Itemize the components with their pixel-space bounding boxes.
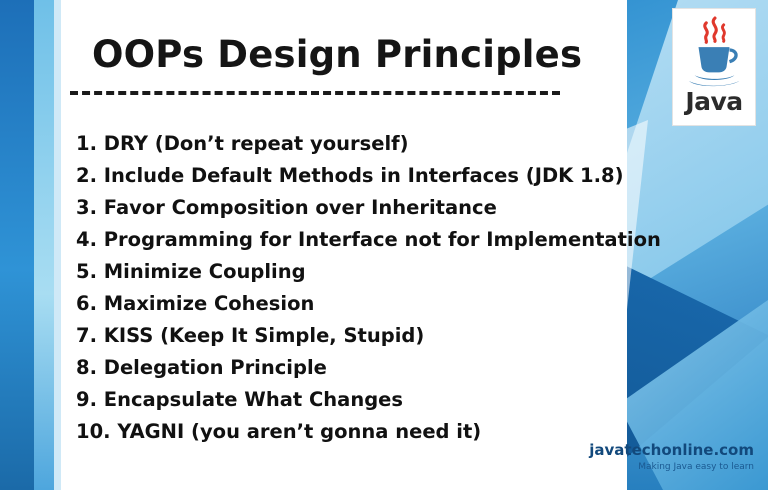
java-logo: Java bbox=[672, 8, 756, 126]
list-item: 7. KISS (Keep It Simple, Stupid) bbox=[76, 326, 636, 346]
java-cup-icon bbox=[683, 15, 745, 87]
list-item: 9. Encapsulate What Changes bbox=[76, 390, 636, 410]
slide-canvas: Java OOPs Design Principles 1. DRY (Don’… bbox=[0, 0, 768, 490]
principles-list: 1. DRY (Don’t repeat yourself) 2. Includ… bbox=[76, 134, 636, 454]
background-band-left-dark bbox=[0, 0, 34, 490]
page-title: OOPs Design Principles bbox=[92, 33, 582, 76]
brand-site-name: javatechonline.com bbox=[589, 442, 754, 459]
title-divider bbox=[70, 91, 560, 95]
list-item: 6. Maximize Cohesion bbox=[76, 294, 636, 314]
list-item: 3. Favor Composition over Inheritance bbox=[76, 198, 636, 218]
list-item: 4. Programming for Interface not for Imp… bbox=[76, 230, 636, 250]
list-item: 8. Delegation Principle bbox=[76, 358, 636, 378]
list-item: 10. YAGNI (you aren’t gonna need it) bbox=[76, 422, 636, 442]
java-wordmark: Java bbox=[685, 89, 742, 114]
site-brand: javatechonline.com Making Java easy to l… bbox=[589, 442, 754, 472]
background-band-left-thin bbox=[54, 0, 61, 490]
list-item: 5. Minimize Coupling bbox=[76, 262, 636, 282]
brand-tagline: Making Java easy to learn bbox=[589, 462, 754, 472]
list-item: 2. Include Default Methods in Interfaces… bbox=[76, 166, 636, 186]
list-item: 1. DRY (Don’t repeat yourself) bbox=[76, 134, 636, 154]
background-band-left-light bbox=[34, 0, 54, 490]
